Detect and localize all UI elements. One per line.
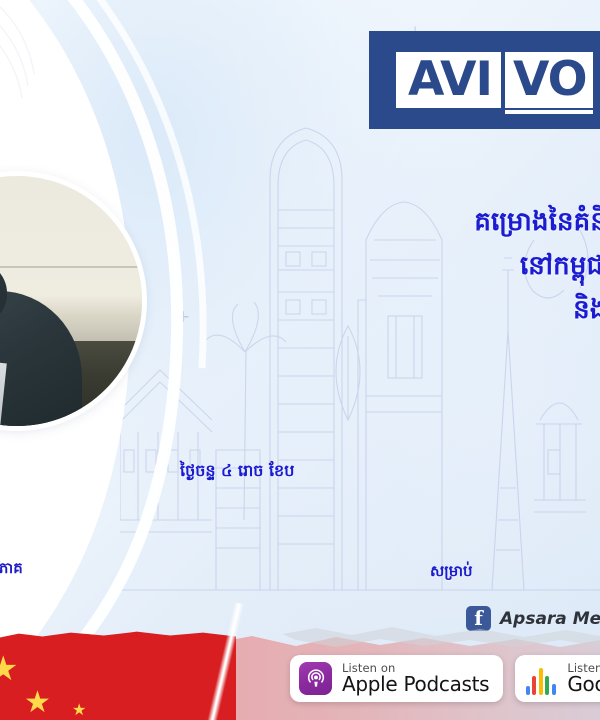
logo-avi-text: AVI — [396, 52, 501, 108]
google-podcasts-icon — [524, 662, 557, 695]
produced-by-label: សម្រាប់ — [430, 562, 600, 584]
podcast-cover-slide: + + AVI VO — [0, 0, 600, 720]
title-line-2: គម្រោងនៃគំនិតផ្តួចផ្តើមខ្សែរ — [0, 200, 600, 244]
title-line-4: និងការកាត់បន្ថយ — [80, 288, 600, 332]
speaker-credit: ជាតិ ក្នុងក្រុងដោយបរិភោគ ក្រុង (CityU) — [0, 528, 204, 606]
google-podcasts-badge[interactable]: Listen on Google Podcasts — [515, 655, 600, 702]
speaker-role: ក្នុងក្រុងដោយបរិភោគ — [0, 556, 204, 581]
apple-podcasts-icon — [299, 662, 332, 695]
facebook-icon[interactable]: f — [466, 606, 491, 631]
flag-star-icon: ★ — [24, 688, 51, 718]
avi-voices-logo: AVI VO — [369, 31, 600, 129]
speaker-name: ជាតិ — [0, 528, 204, 556]
flag-star-icon: ★ — [72, 702, 86, 718]
google-badge-main-label: Google Podcasts — [567, 674, 600, 695]
china-flag: ★ ★ ★ — [0, 624, 236, 720]
title-line-3: នៅកម្ពុជា៖ ការរក្សាការ — [40, 244, 600, 288]
page-title: ប្រធានបទ គម្រោងនៃគំនិតផ្តួចផ្តើមខ្សែរ នៅ… — [140, 156, 600, 332]
apple-podcasts-badge[interactable]: Listen on Apple Podcasts — [290, 655, 503, 702]
broadcast-date: ថ្ងៃចន្ទ ៤ រោច ខែប — [180, 460, 600, 484]
flag-star-icon: ★ — [0, 652, 18, 686]
facebook-page-name: Apsara Medi — [500, 609, 600, 629]
title-line-1: ប្រធានបទ — [140, 156, 600, 200]
podcast-badges: Listen on Apple Podcasts Listen on Googl… — [290, 655, 600, 702]
facebook-credit[interactable]: f Apsara Medi — [466, 606, 600, 631]
apple-badge-main-label: Apple Podcasts — [342, 674, 489, 695]
logo-voices-text: VO — [505, 52, 593, 108]
speaker-organization: ក្រុង (CityU) — [0, 581, 204, 606]
